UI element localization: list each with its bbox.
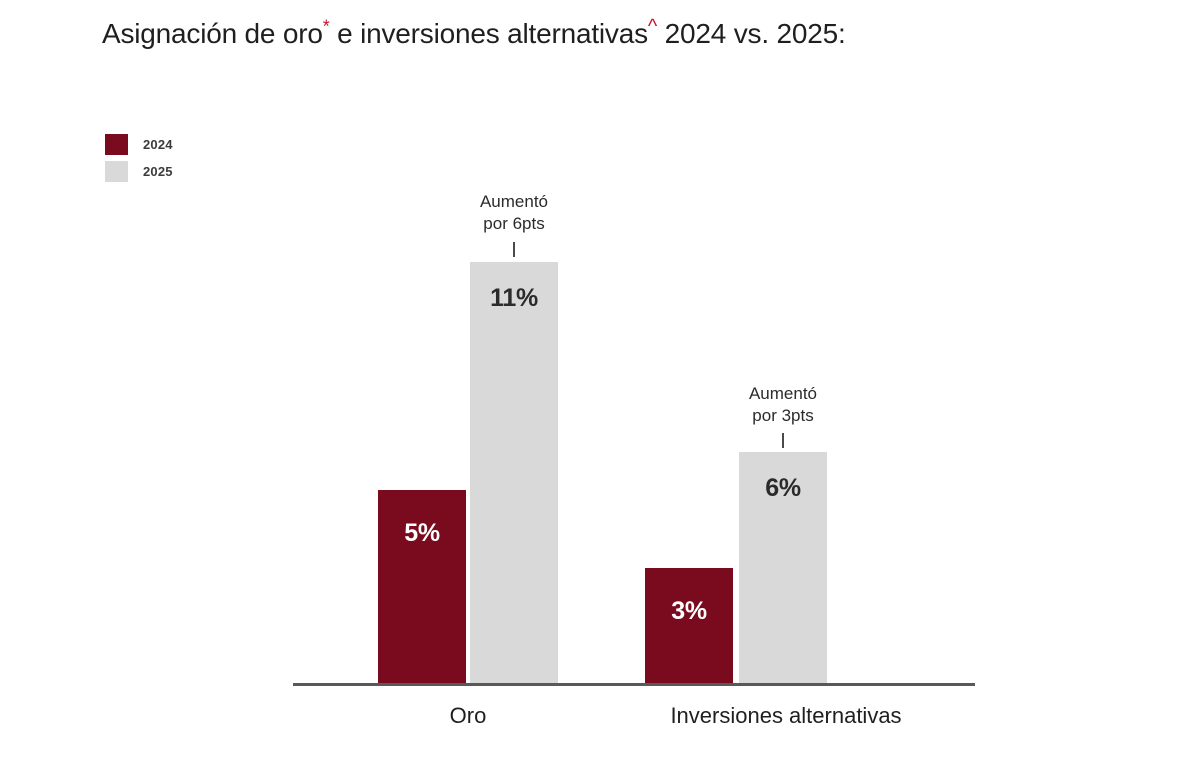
bar-value-gold-2024: 5%	[378, 519, 466, 548]
bar-value-gold-2025: 11%	[470, 284, 558, 313]
bar-value-alt-2024: 3%	[645, 597, 733, 626]
annotation-tick-gold	[513, 242, 515, 257]
category-label-alt: Inversiones alternativas	[616, 703, 956, 729]
annotation-alt-increase: Aumentó por 3pts	[712, 383, 854, 427]
bar-gold-2024[interactable]: 5%	[378, 490, 466, 684]
bar-alt-2024[interactable]: 3%	[645, 568, 733, 684]
annotation-gold-increase: Aumentó por 6pts	[443, 191, 585, 235]
category-label-gold: Oro	[398, 703, 538, 729]
bar-value-alt-2025: 6%	[739, 474, 827, 503]
annotation-tick-alt	[782, 433, 784, 448]
bar-alt-2025[interactable]: 6%	[739, 452, 827, 684]
chart-plot-area: Aumentó por 6pts 5% 11% Aumentó por 3pts…	[0, 0, 1200, 762]
bar-gold-2025[interactable]: 11%	[470, 262, 558, 684]
x-axis-line	[293, 683, 975, 686]
